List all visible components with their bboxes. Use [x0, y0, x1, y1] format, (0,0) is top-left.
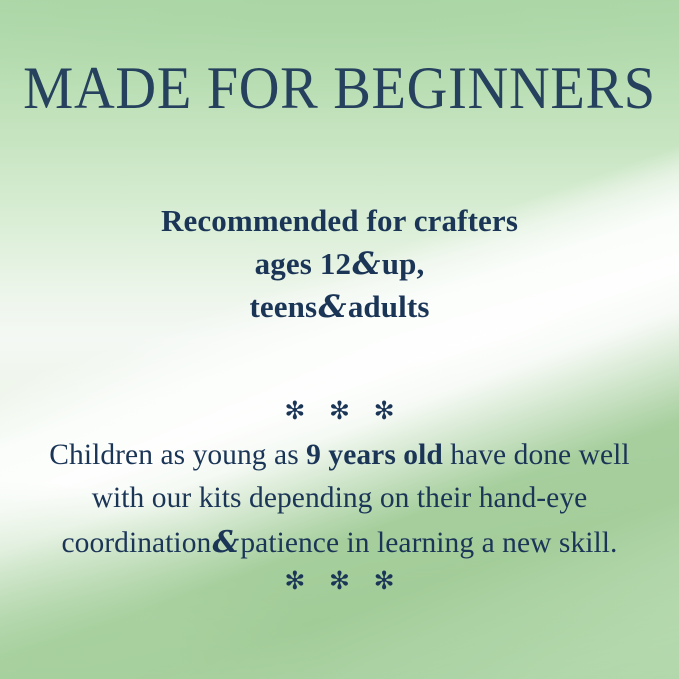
recommendation-line-1: Recommended for crafters — [0, 200, 679, 243]
body-line-1-before: Children as young as — [49, 439, 306, 471]
age-highlight: 9 years old — [306, 439, 443, 471]
panel-content: MADE FOR BEGINNERS Recommended for craft… — [0, 0, 679, 679]
asterisk-divider-bottom: ✻ ✻ ✻ — [0, 568, 679, 593]
ampersand-glyph: & — [317, 289, 348, 325]
body-line-1: Children as young as 9 years old have do… — [0, 434, 679, 477]
recommendation-line-3-before: teens — [249, 289, 317, 324]
recommendation-line-2: ages 12&up, — [0, 243, 679, 286]
body-paragraph: Children as young as 9 years old have do… — [0, 434, 679, 565]
body-line-2: with our kits depending on their hand-ey… — [0, 477, 679, 520]
recommendation-block: Recommended for crafters ages 12&up, tee… — [0, 200, 679, 328]
ampersand-glyph: & — [211, 524, 240, 559]
recommendation-line-2-after: up, — [382, 246, 425, 281]
ampersand-glyph: & — [351, 246, 382, 282]
recommendation-line-3: teens&adults — [0, 286, 679, 329]
body-line-3: coordination&patience in learning a new … — [0, 520, 679, 565]
page-title: MADE FOR BEGINNERS — [20, 58, 658, 118]
recommendation-line-2-before: ages 12 — [255, 246, 351, 281]
body-line-1-after: have done well — [443, 439, 630, 471]
asterisk-divider-top: ✻ ✻ ✻ — [0, 398, 679, 423]
promo-panel: MADE FOR BEGINNERS Recommended for craft… — [0, 0, 679, 679]
body-line-3-after: patience in learning a new skill. — [240, 527, 617, 559]
recommendation-line-3-after: adults — [348, 289, 430, 324]
body-line-3-before: coordination — [62, 527, 212, 559]
